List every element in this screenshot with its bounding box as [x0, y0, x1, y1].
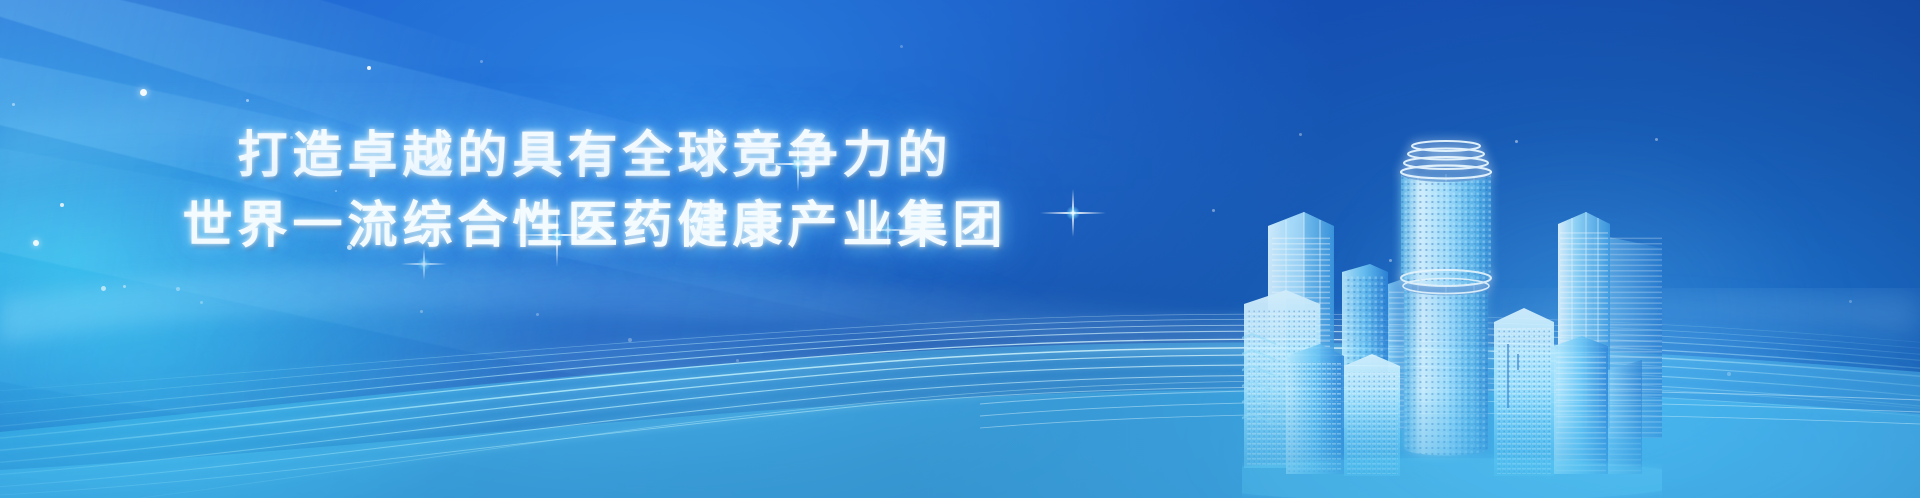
cylindrical-pixel-tower	[1401, 141, 1491, 456]
building-front-right	[1494, 308, 1554, 476]
particle	[480, 60, 483, 63]
particle	[628, 338, 632, 342]
particle	[1849, 300, 1852, 303]
particle	[367, 66, 371, 70]
particle	[536, 313, 539, 316]
building-front-mid-2	[1344, 354, 1400, 476]
particle	[1727, 372, 1731, 376]
building-right-step	[1554, 336, 1608, 474]
particle	[176, 287, 180, 291]
particle	[1212, 209, 1215, 212]
headline-line-1: 打造卓越的具有全球竞争力的	[0, 120, 1190, 190]
particle	[900, 45, 903, 48]
city-skyline-illustration	[1242, 108, 1662, 498]
particle	[140, 89, 147, 96]
particle	[736, 359, 739, 362]
particle	[12, 103, 15, 106]
building-right-edge	[1608, 360, 1642, 474]
building-front-mid-1	[1286, 344, 1344, 474]
particle	[101, 286, 106, 291]
headline-block: 打造卓越的具有全球竞争力的 世界一流综合性医药健康产业集团	[0, 120, 1190, 260]
hero-banner: 打造卓越的具有全球竞争力的 世界一流综合性医药健康产业集团	[0, 0, 1920, 498]
glow-center	[200, 255, 1100, 498]
particle	[200, 301, 203, 304]
headline-line-2: 世界一流综合性医药健康产业集团	[0, 190, 1190, 260]
particle	[123, 285, 126, 288]
particle	[420, 310, 423, 313]
particle	[246, 99, 249, 102]
